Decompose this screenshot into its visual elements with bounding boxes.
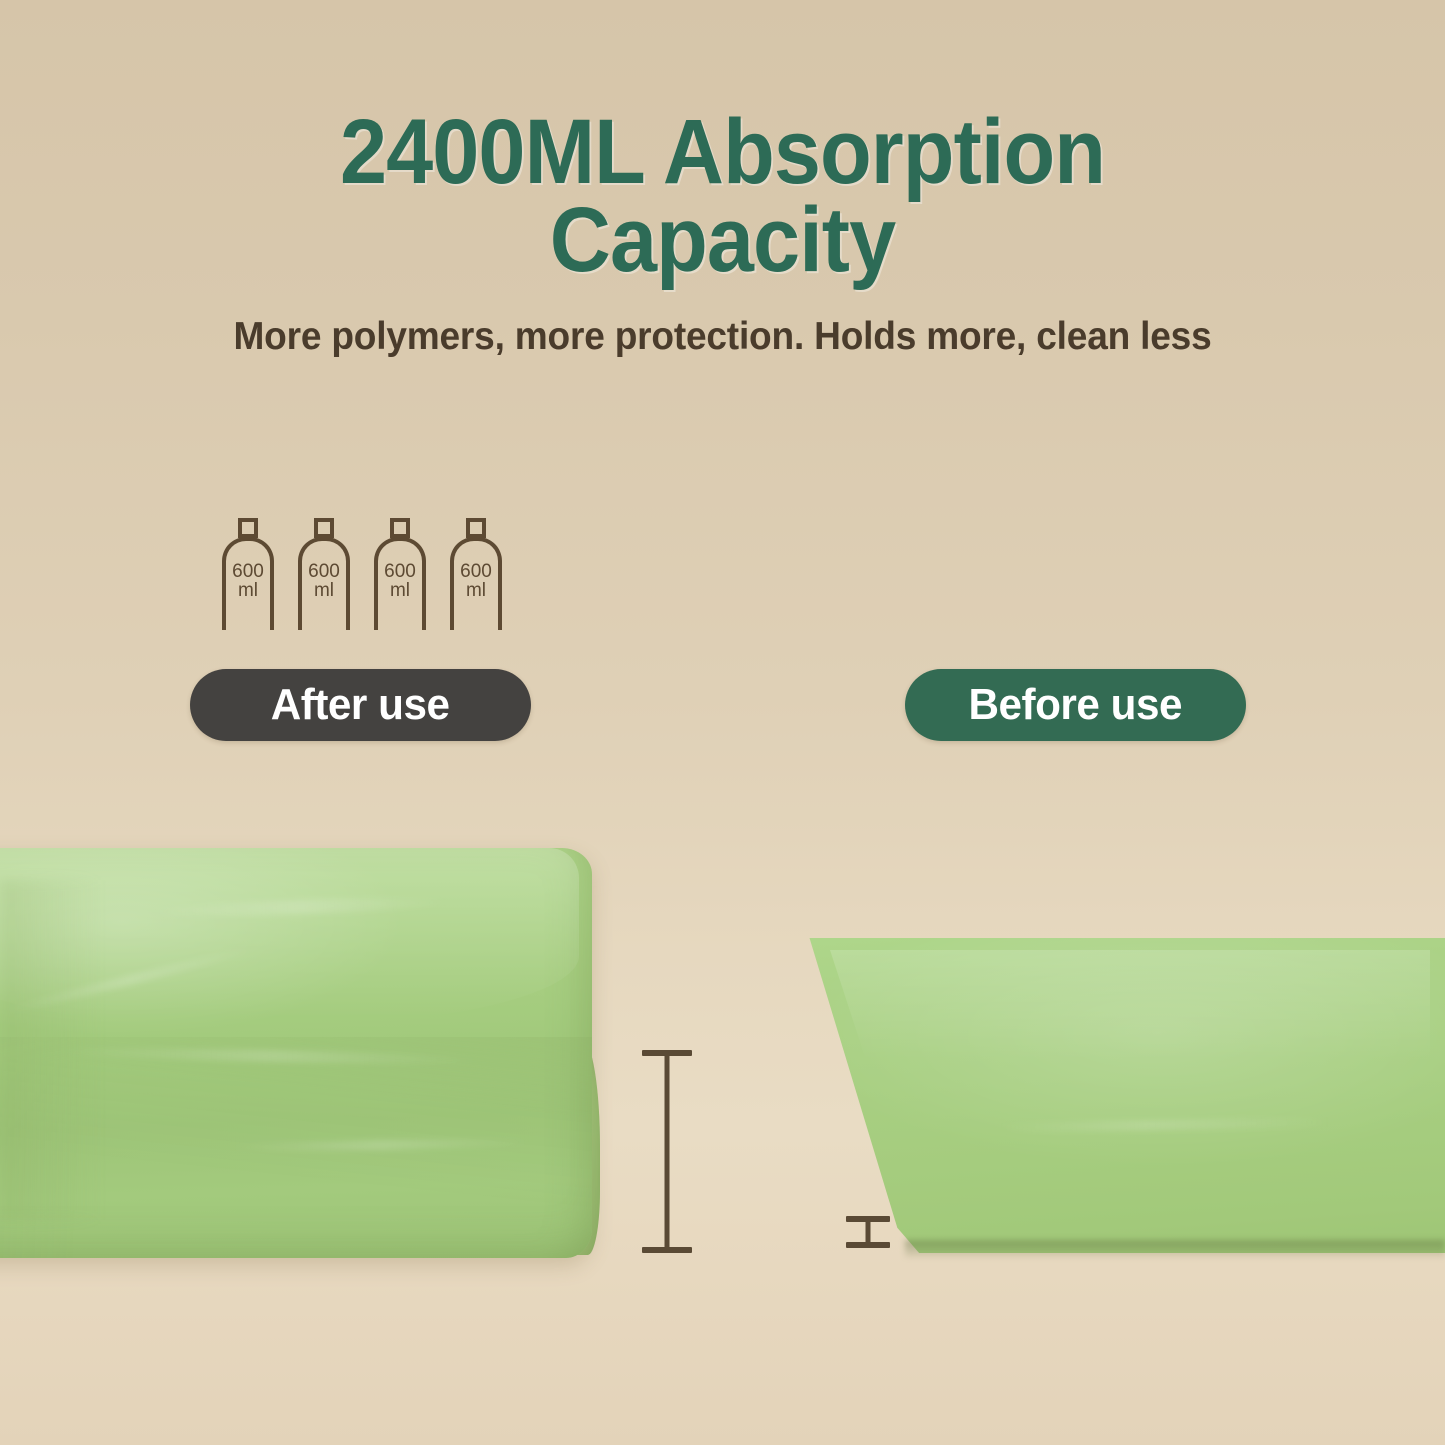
- thickness-measure-after-use: [642, 1050, 692, 1253]
- swollen-absorbent-pad: [0, 848, 592, 1258]
- bottle-icon: 600 ml: [222, 518, 274, 630]
- bottle-volume: 600: [222, 562, 274, 581]
- bottle-label: 600 ml: [374, 562, 426, 601]
- bottle-icon: 600 ml: [450, 518, 502, 630]
- measure-stem: [866, 1221, 871, 1243]
- headline-line-1: 2400ML Absorption: [58, 108, 1387, 196]
- capacity-bottle-row: 600 ml 600 ml 600 ml 600 ml: [222, 518, 502, 630]
- measure-cap-bottom: [846, 1242, 890, 1248]
- bottle-volume: 600: [374, 562, 426, 581]
- subtitle: More polymers, more protection. Holds mo…: [36, 315, 1409, 359]
- thickness-measure-before-use: [846, 1216, 890, 1248]
- badge-after-use-label: After use: [271, 680, 450, 730]
- bottle-label: 600 ml: [298, 562, 350, 601]
- bottle-volume: 600: [298, 562, 350, 581]
- product-infographic: 2400ML Absorption Capacity More polymers…: [0, 0, 1445, 1445]
- page-title: 2400ML Absorption Capacity: [58, 108, 1387, 285]
- bottle-icon: 600 ml: [298, 518, 350, 630]
- headline-line-2: Capacity: [58, 196, 1387, 284]
- badge-before-use: Before use: [905, 669, 1246, 741]
- bottle-unit: ml: [374, 581, 426, 600]
- bottle-cap-icon: [314, 518, 334, 538]
- bottle-unit: ml: [298, 581, 350, 600]
- flat-absorbent-pad: [795, 938, 1445, 1253]
- bottle-cap-icon: [466, 518, 486, 538]
- bottle-cap-icon: [238, 518, 258, 538]
- badge-before-use-label: Before use: [969, 680, 1183, 730]
- bottle-icon: 600 ml: [374, 518, 426, 630]
- bottle-cap-icon: [390, 518, 410, 538]
- measure-stem: [665, 1055, 670, 1248]
- badge-after-use: After use: [190, 669, 531, 741]
- bottle-label: 600 ml: [450, 562, 502, 601]
- bottle-unit: ml: [222, 581, 274, 600]
- bottle-unit: ml: [450, 581, 502, 600]
- bottle-volume: 600: [450, 562, 502, 581]
- measure-cap-bottom: [642, 1247, 692, 1253]
- bottle-label: 600 ml: [222, 562, 274, 601]
